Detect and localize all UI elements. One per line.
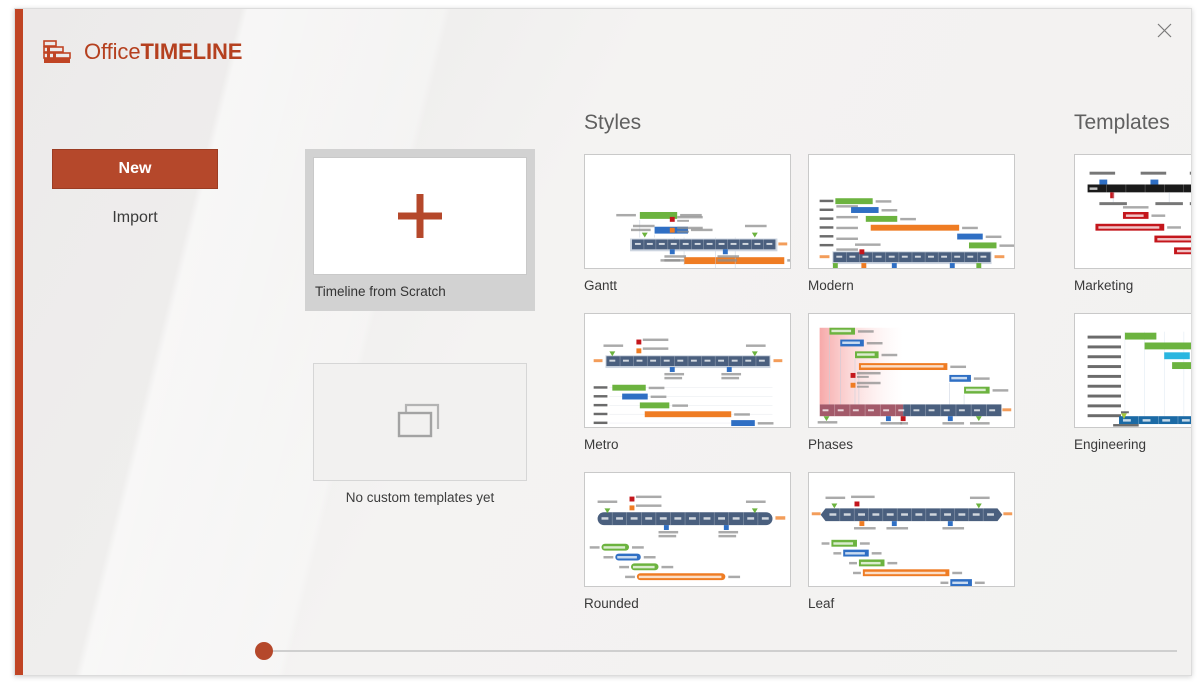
new-button[interactable]: New: [52, 149, 218, 189]
thumbnail-artwork: [809, 473, 1014, 586]
custom-templates-label: No custom templates yet: [313, 481, 527, 511]
timeline-from-scratch-label: Timeline from Scratch: [313, 275, 527, 305]
gallery-thumbnail-rounded[interactable]: [584, 472, 791, 587]
close-button[interactable]: [1143, 13, 1185, 47]
gallery-thumbnail-leaf[interactable]: [808, 472, 1015, 587]
timeline-from-scratch-thumbnail[interactable]: [313, 157, 527, 275]
brand: OfficeTIMELINE: [43, 39, 242, 65]
gallery-label-engineering: Engineering: [1074, 428, 1192, 452]
brand-title: OfficeTIMELINE: [84, 39, 242, 65]
gallery-card-engineering[interactable]: Engineering: [1074, 313, 1192, 472]
gallery-thumbnail-phases[interactable]: [808, 313, 1015, 428]
styles-grid: GanttModernMetroPhasesRoundedLeaf: [584, 154, 1015, 631]
thumbnail-artwork: [1075, 314, 1192, 427]
gallery-card-metro[interactable]: Metro: [584, 313, 791, 472]
office-timeline-new-dialog: OfficeTIMELINE New Import Timeline from …: [14, 8, 1192, 676]
plus-icon: [392, 188, 448, 244]
gallery-thumbnail-gantt[interactable]: [584, 154, 791, 269]
left-accent-bar: [15, 9, 23, 675]
thumbnail-artwork: [585, 155, 790, 268]
thumbnail-artwork: [809, 314, 1014, 427]
gallery-card-modern[interactable]: Modern: [808, 154, 1015, 313]
gallery-thumbnail-modern[interactable]: [808, 154, 1015, 269]
custom-templates-thumbnail: [313, 363, 527, 481]
gallery-card-rounded[interactable]: Rounded: [584, 472, 791, 631]
brand-timeline-text: TIMELINE: [140, 39, 242, 64]
import-button[interactable]: Import: [52, 209, 218, 227]
gallery-card-phases[interactable]: Phases: [808, 313, 1015, 472]
gallery-label-metro: Metro: [584, 428, 791, 452]
templates-grid: MarketingProgram ManagemeEngineering: [1074, 154, 1192, 472]
gallery-label-rounded: Rounded: [584, 587, 791, 611]
gallery-thumbnail-marketing[interactable]: [1074, 154, 1192, 269]
thumbnail-artwork: [585, 473, 790, 586]
thumbnail-artwork: [585, 314, 790, 427]
gallery-card-gantt[interactable]: Gantt: [584, 154, 791, 313]
gallery-label-leaf: Leaf: [808, 587, 1015, 611]
gallery-label-marketing: Marketing: [1074, 269, 1192, 293]
gallery-thumbnail-metro[interactable]: [584, 313, 791, 428]
gallery-thumbnail-engineering[interactable]: [1074, 313, 1192, 428]
gallery-card-leaf[interactable]: Leaf: [808, 472, 1015, 631]
gallery-slider-thumb[interactable]: [255, 642, 273, 660]
gantt-bars-logo-icon: [43, 39, 73, 65]
close-icon: [1157, 23, 1172, 38]
thumbnail-artwork: [1075, 155, 1192, 268]
action-rail: New Import: [52, 149, 218, 227]
scratch-column: Timeline from Scratch No custom template…: [305, 149, 535, 511]
gallery-label-gantt: Gantt: [584, 269, 791, 293]
gallery-slider-track[interactable]: [265, 650, 1177, 652]
duplicate-rectangles-icon: [394, 399, 446, 445]
styles-heading: Styles: [584, 111, 641, 135]
custom-templates-card: No custom templates yet: [305, 355, 535, 511]
thumbnail-artwork: [809, 155, 1014, 268]
templates-heading: Templates: [1074, 111, 1170, 135]
timeline-from-scratch-card[interactable]: Timeline from Scratch: [305, 149, 535, 311]
gallery-label-modern: Modern: [808, 269, 1015, 293]
brand-office-text: Office: [84, 39, 140, 64]
gallery-card-marketing[interactable]: Marketing: [1074, 154, 1192, 313]
gallery-scroll-slider[interactable]: [247, 643, 1177, 659]
gallery-label-phases: Phases: [808, 428, 1015, 452]
